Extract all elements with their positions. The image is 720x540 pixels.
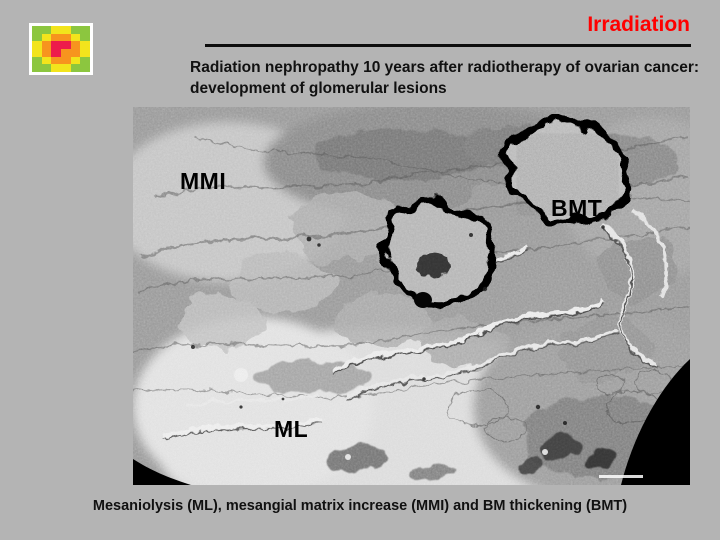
logo-cell-4 [71,26,81,34]
logo-cell-15 [61,41,71,49]
logo-cell-10 [71,34,81,42]
logo-cell-12 [32,41,42,49]
logo-cell-31 [42,64,52,72]
micrograph-canvas [133,107,690,485]
logo-cell-8 [51,34,61,42]
logo-cell-34 [71,64,81,72]
logo-cell-26 [51,57,61,65]
logo-cell-23 [80,49,90,57]
logo-cell-6 [32,34,42,42]
logo-cell-19 [42,49,52,57]
logo-cell-32 [51,64,61,72]
logo-cell-17 [80,41,90,49]
logo-cell-25 [42,57,52,65]
logo-cell-0 [32,26,42,34]
logo-cell-16 [71,41,81,49]
logo-cell-28 [71,57,81,65]
logo-cell-9 [61,34,71,42]
logo-cell-3 [61,26,71,34]
slide-subtitle: Radiation nephropathy 10 years after rad… [190,58,700,99]
logo-cell-33 [61,64,71,72]
logo-cell-21 [61,49,71,57]
logo-cell-29 [80,57,90,65]
logo-cell-24 [32,57,42,65]
logo-cell-22 [71,49,81,57]
logo-cell-1 [42,26,52,34]
logo-cell-18 [32,49,42,57]
logo-cell-13 [42,41,52,49]
logo-cell-30 [32,64,42,72]
logo-color-grid [32,26,90,72]
slide-caption: Mesaniolysis (ML), mesangial matrix incr… [0,498,720,515]
logo-cell-11 [80,34,90,42]
logo-cell-14 [51,41,61,49]
logo-cell-35 [80,64,90,72]
logo-cell-2 [51,26,61,34]
logo-cell-27 [61,57,71,65]
logo-cell-20 [51,49,61,57]
presentation-slide: Irradiation Radiation nephropathy 10 yea… [0,0,720,540]
electron-micrograph-image: MMI BMT ML [133,107,690,485]
logo-cell-5 [80,26,90,34]
page-title: Irradiation [587,14,690,35]
title-divider [205,44,691,47]
logo-cell-7 [42,34,52,42]
mosaic-square-logo [29,23,93,75]
